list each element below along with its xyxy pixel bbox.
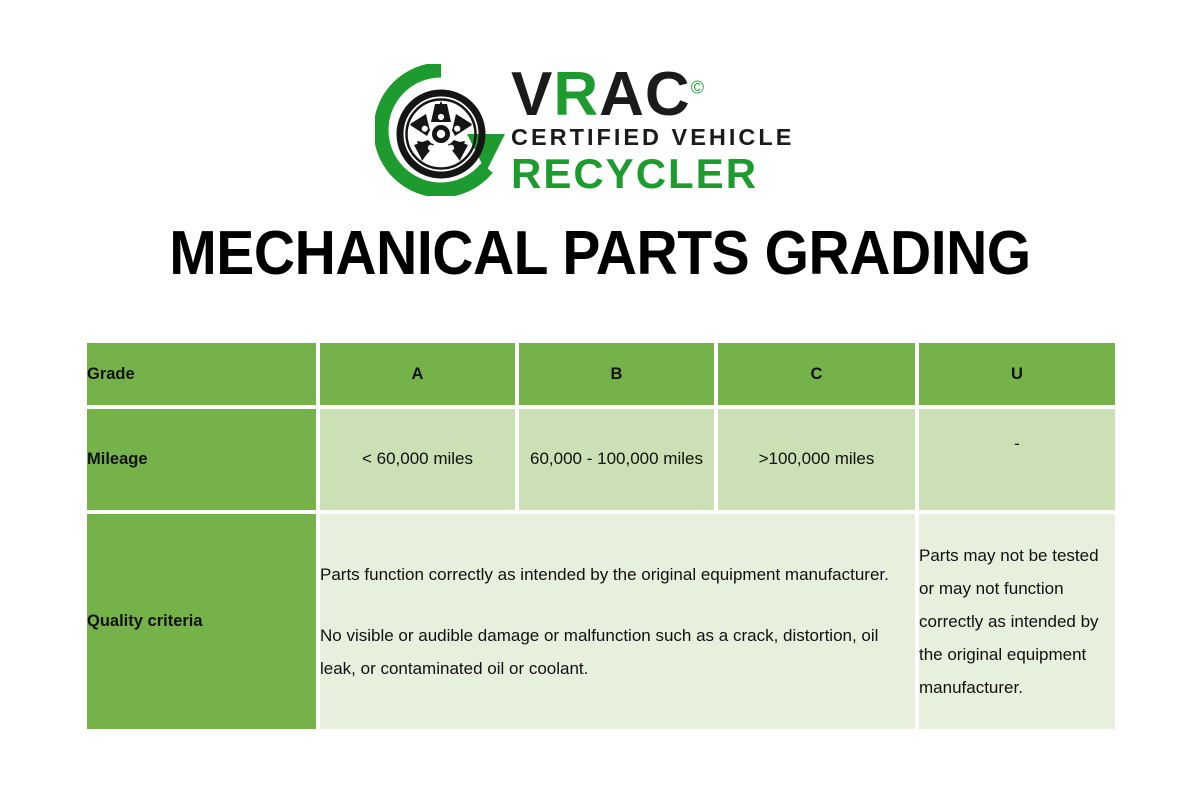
table-row-mileage: Mileage < 60,000 miles 60,000 - 100,000 …	[85, 407, 1117, 512]
logo-brand: VRAC©	[511, 66, 794, 123]
quality-cell-u: Parts may not be tested or may not funct…	[917, 512, 1117, 731]
mileage-cell-a: < 60,000 miles	[318, 407, 517, 512]
header-cell-grade: Grade	[85, 341, 318, 407]
logo-brand-ac: AC	[599, 60, 691, 129]
row-label-quality-criteria: Quality criteria	[85, 512, 318, 731]
logo-brand-v: V	[511, 60, 553, 129]
mileage-cell-u: -	[917, 407, 1117, 512]
mileage-cell-b: 60,000 - 100,000 miles	[517, 407, 716, 512]
vrac-logo: VRAC© CERTIFIED VEHICLE RECYCLER	[375, 55, 835, 205]
table-header-row: Grade A B C U	[85, 341, 1117, 407]
logo-wordmark: VRAC© CERTIFIED VEHICLE RECYCLER	[511, 64, 794, 197]
header-cell-c: C	[716, 341, 917, 407]
header-cell-a: A	[318, 341, 517, 407]
quality-cell-abc: Parts function correctly as intended by …	[318, 512, 917, 731]
quality-paragraph-2: No visible or audible damage or malfunct…	[320, 619, 915, 685]
table-row-quality-criteria: Quality criteria Parts function correctl…	[85, 512, 1117, 731]
wheel-recycle-arrow-icon	[375, 64, 507, 196]
page-title: MECHANICAL PARTS GRADING	[48, 218, 1152, 289]
header-cell-u: U	[917, 341, 1117, 407]
mileage-cell-u-dash: -	[919, 434, 1115, 454]
mechanical-parts-grading-table: Grade A B C U Mileage < 60,000 miles 60,…	[85, 341, 1117, 731]
row-label-mileage: Mileage	[85, 407, 318, 512]
logo-subtitle: RECYCLER	[511, 152, 794, 196]
header-cell-b: B	[517, 341, 716, 407]
quality-paragraph-1: Parts function correctly as intended by …	[320, 558, 915, 591]
mileage-cell-c: >100,000 miles	[716, 407, 917, 512]
copyright-icon: ©	[691, 77, 704, 97]
quality-u-paragraph: Parts may not be tested or may not funct…	[919, 539, 1115, 705]
logo-brand-r: R	[553, 60, 599, 129]
